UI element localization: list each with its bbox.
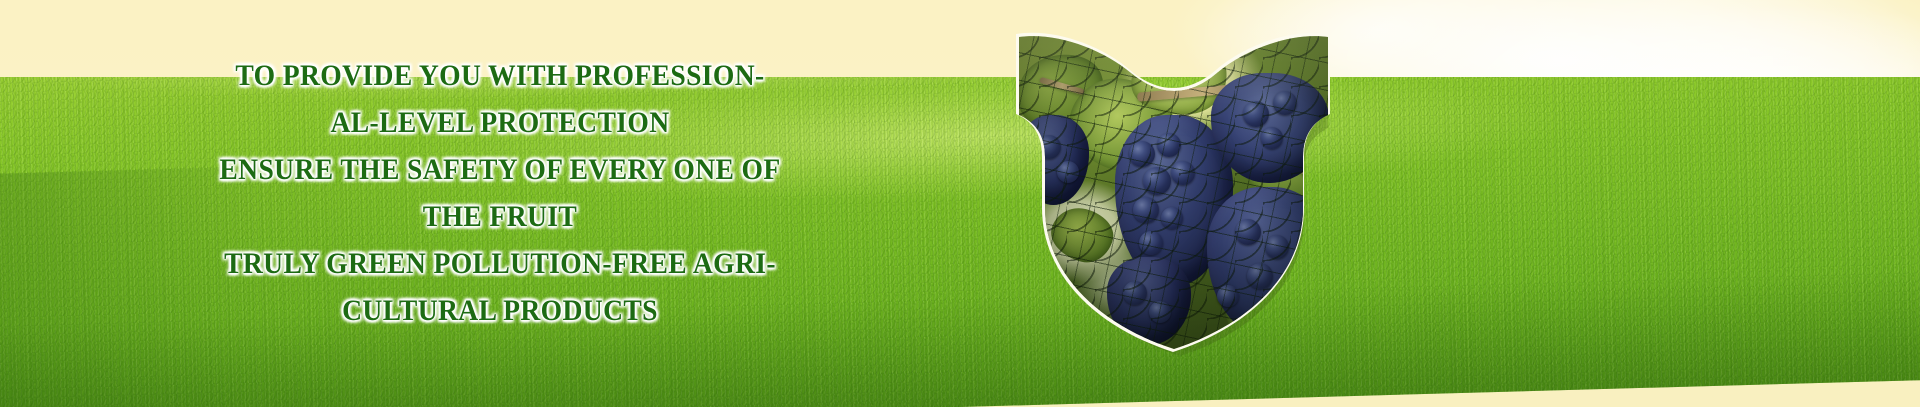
headline-line-1: TO PROVIDE YOU WITH PROFESSION- xyxy=(40,52,960,99)
headline-line-4: THE FRUIT xyxy=(40,193,960,240)
headline-line-2: AL-LEVEL PROTECTION xyxy=(40,99,960,146)
headline-block: TO PROVIDE YOU WITH PROFESSION- AL-LEVEL… xyxy=(0,52,1000,334)
headline-line-6: CULTURAL PRODUCTS xyxy=(40,287,960,334)
headline-line-5: TRULY GREEN POLLUTION-FREE AGRI- xyxy=(40,240,960,287)
headline-line-3: ENSURE THE SAFETY OF EVERY ONE OF xyxy=(40,146,960,193)
shield-grape-photo xyxy=(1011,29,1335,355)
photo-vignette xyxy=(1011,29,1335,355)
shield-emblem xyxy=(1008,28,1353,358)
agriculture-banner: TO PROVIDE YOU WITH PROFESSION- AL-LEVEL… xyxy=(0,0,1920,407)
